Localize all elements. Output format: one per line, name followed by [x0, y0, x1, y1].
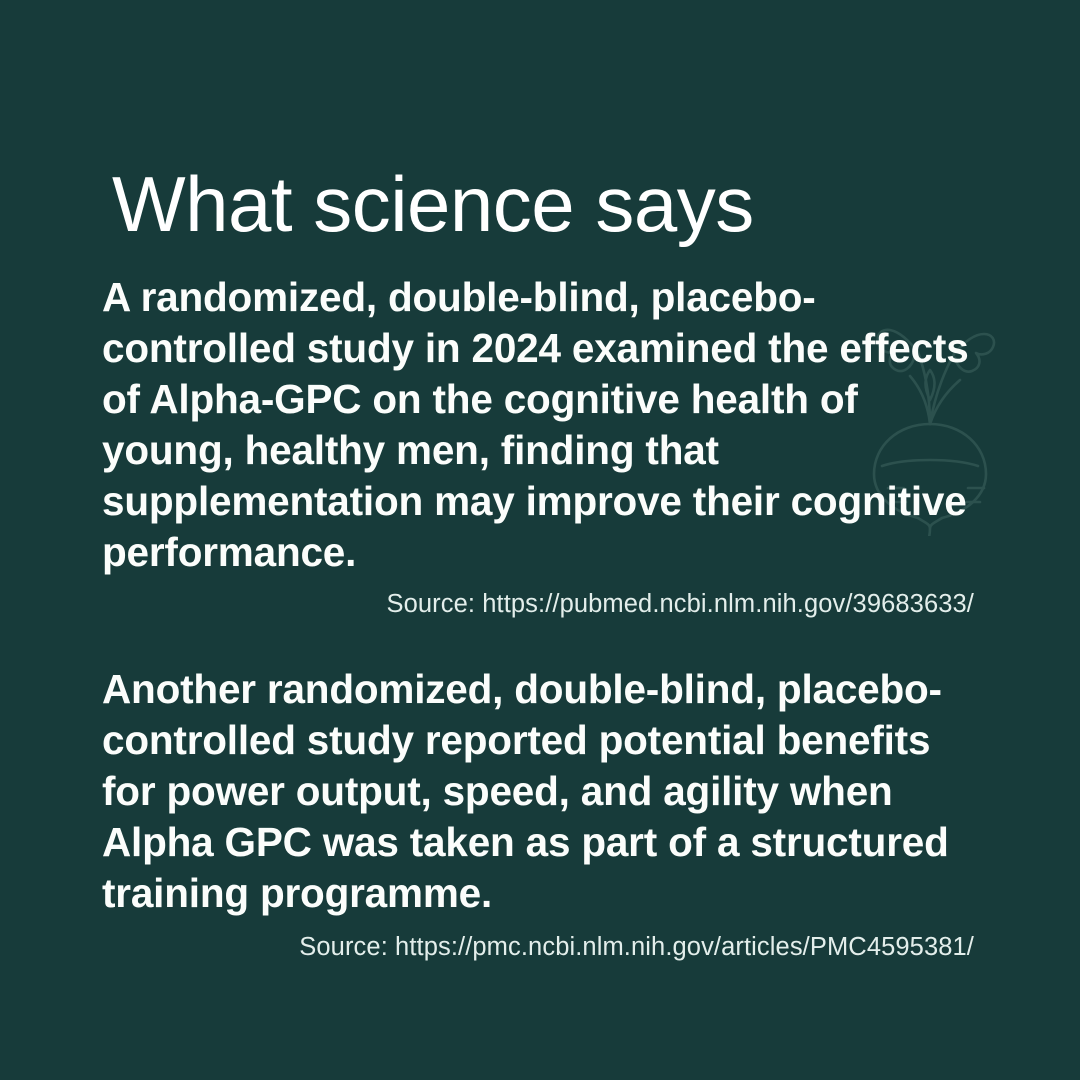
study-source-2: Source: https://pmc.ncbi.nlm.nih.gov/art… [102, 919, 974, 963]
study-body-1: A randomized, double-blind, placebo-cont… [102, 272, 974, 578]
study-section-1: A randomized, double-blind, placebo-cont… [102, 272, 974, 620]
page-title: What science says [112, 156, 754, 252]
slide-canvas: What science says A randomized, double-b… [0, 0, 1080, 1080]
study-source-1: Source: https://pubmed.ncbi.nlm.nih.gov/… [102, 578, 974, 620]
study-section-2: Another randomized, double-blind, placeb… [102, 664, 974, 963]
study-body-2: Another randomized, double-blind, placeb… [102, 664, 974, 919]
